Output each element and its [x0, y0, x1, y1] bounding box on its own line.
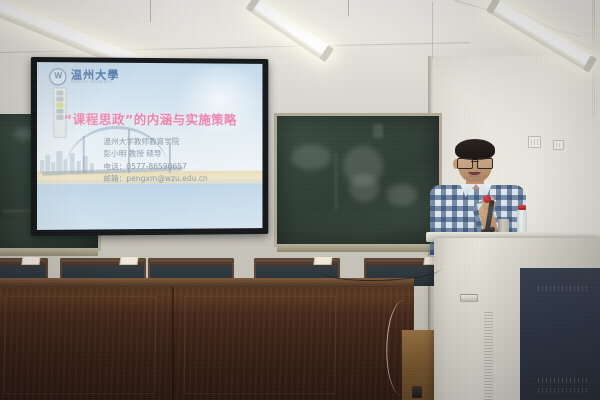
university-name-cn: 温州大學 — [71, 69, 119, 80]
contact-line-presenter: 彭小明 教授 硕导 — [103, 148, 207, 160]
power-outlet-plate[interactable] — [553, 140, 564, 150]
toolbar-highlighter-icon[interactable] — [56, 102, 63, 107]
projected-slide: W 温州大學 WENZHOU UNIVERSITY “课程思政”的内涵与实施策略… — [37, 62, 262, 230]
contact-line-phone: 电话：0577-86590657 — [103, 161, 207, 174]
front-desk-row — [0, 278, 414, 400]
slide-bridge-pylon — [83, 136, 85, 173]
lectern-cabinet — [434, 238, 600, 400]
fluorescent-tube-right-icon — [486, 0, 597, 73]
desk-seam — [172, 287, 174, 400]
contact-line-institute: 温州大学教师教育学院 — [103, 136, 207, 148]
slide-contact-block: 温州大学教师教育学院 彭小明 教授 硕导 电话：0577-86590657 邮箱… — [103, 136, 207, 185]
university-logo: W 温州大學 WENZHOU UNIVERSITY — [50, 68, 120, 86]
podium-side-vent — [484, 312, 493, 400]
podium-front-panel — [520, 268, 600, 400]
slide-title: “课程思政”的内涵与实施策略 — [37, 109, 262, 129]
slide-sea — [37, 179, 262, 230]
desk-panel — [184, 296, 336, 394]
projection-screen: W 温州大學 WENZHOU UNIVERSITY “课程思政”的内涵与实施策略… — [31, 57, 268, 236]
podium-vent — [538, 286, 590, 291]
speaker-hair — [455, 139, 495, 160]
water-bottle[interactable] — [517, 209, 527, 234]
fluorescent-tube-center-icon — [246, 0, 335, 62]
name-card — [21, 256, 40, 265]
podium-latch-icon[interactable] — [460, 294, 478, 302]
podium-vent — [538, 388, 590, 393]
name-card — [119, 256, 138, 265]
chalkboard-right — [274, 113, 442, 247]
toolbar-pointer-icon[interactable] — [56, 90, 63, 95]
cable-plug-icon — [412, 386, 422, 398]
toolbar-pen-icon[interactable] — [56, 96, 63, 101]
bottle-cap-icon — [518, 205, 526, 210]
lecture-hall-photo: W 温州大學 WENZHOU UNIVERSITY “课程思政”的内涵与实施策略… — [0, 0, 600, 400]
desk-panel — [4, 296, 156, 394]
university-crest-icon: W — [50, 68, 67, 85]
university-name-en: WENZHOU UNIVERSITY — [71, 82, 119, 85]
glasses-icon — [457, 158, 493, 167]
contact-line-email: 邮箱：pengxm@wzu.edu.cn — [103, 173, 207, 186]
microphone-tip-icon — [483, 195, 491, 203]
podium-vent — [538, 378, 590, 383]
